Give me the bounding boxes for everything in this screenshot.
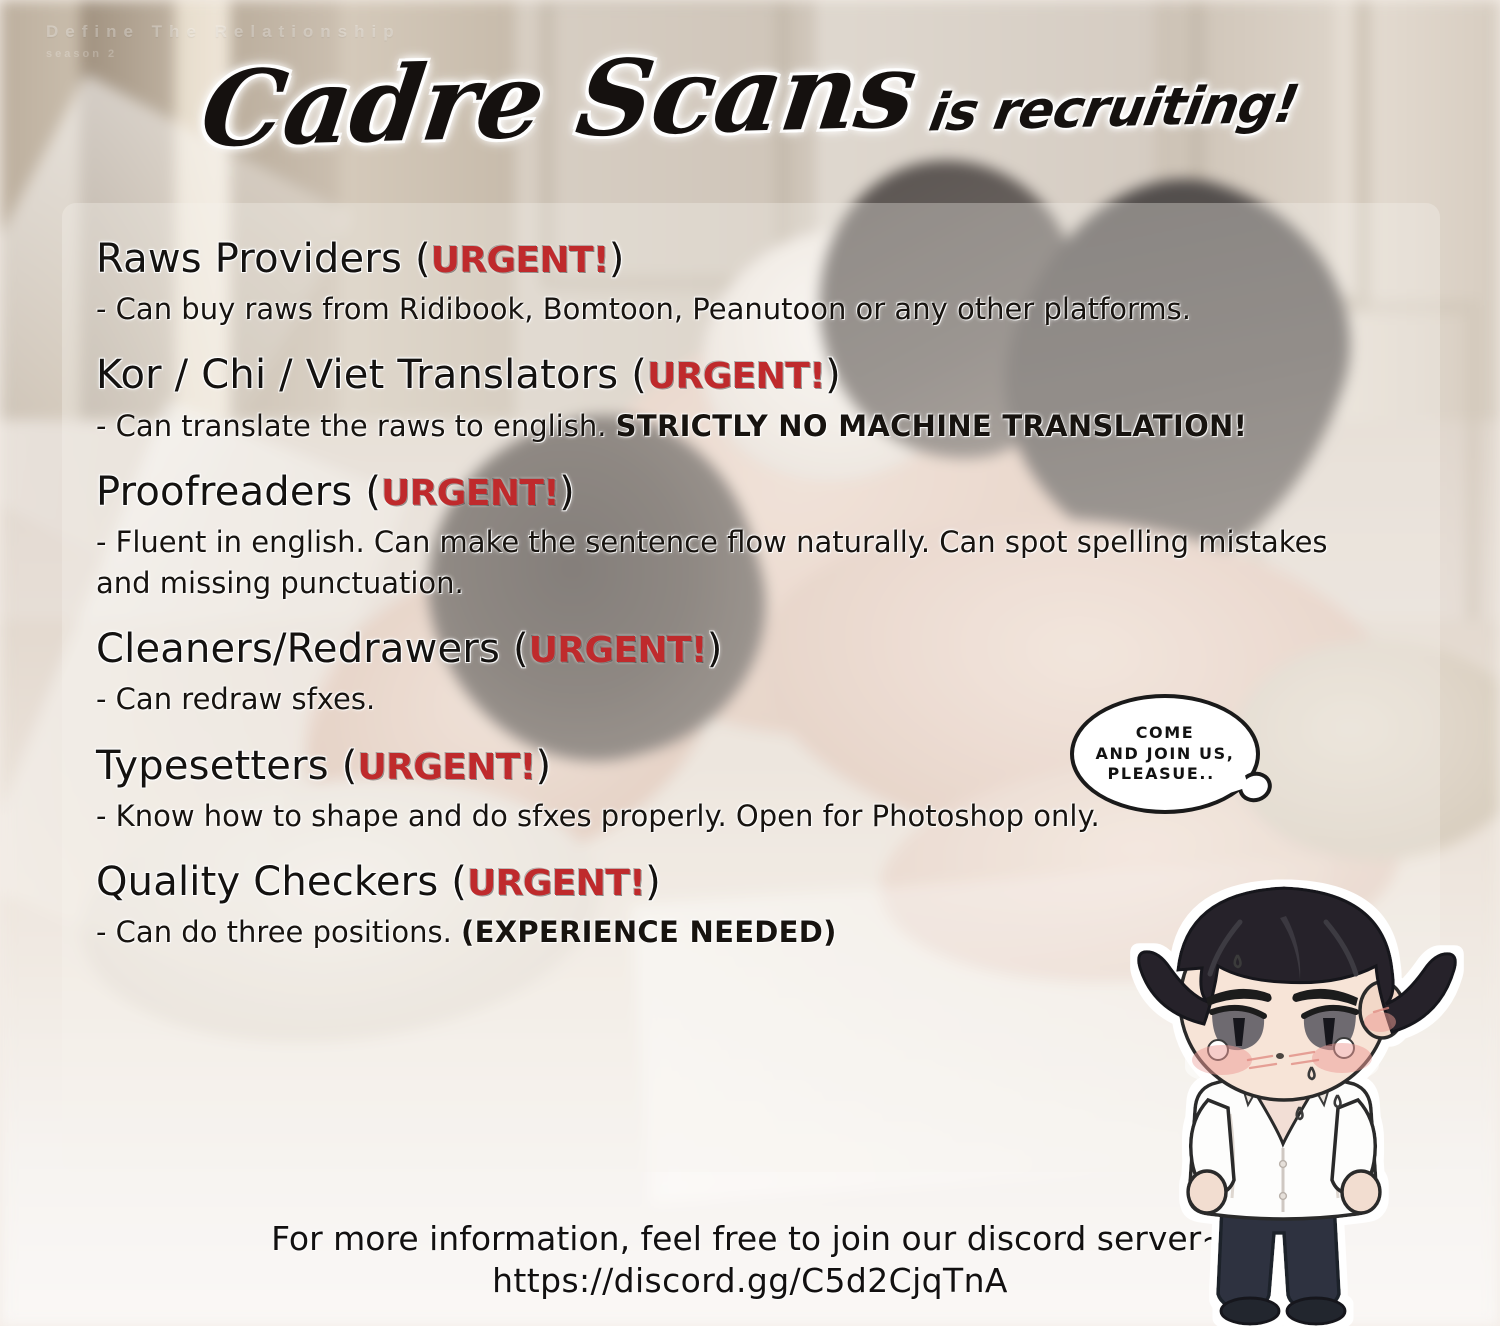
role-description-text: - Can translate the raws to english. — [96, 409, 616, 443]
urgent-badge: URGENT! — [381, 473, 559, 514]
role-description: - Can translate the raws to english. STR… — [96, 406, 1386, 447]
role-item-translators: Kor / Chi / Viet Translators (URGENT!) -… — [96, 352, 1396, 446]
role-name: Typesetters — [96, 743, 329, 789]
role-name: Kor / Chi / Viet Translators — [96, 352, 618, 398]
role-description: - Can buy raws from Ridibook, Bomtoon, P… — [96, 289, 1386, 330]
speech-bubble-line-3: PLEASUE... — [1108, 766, 1223, 783]
urgent-badge: URGENT! — [358, 747, 536, 788]
urgent-badge: URGENT! — [431, 240, 609, 281]
chibi-character-mascot — [1090, 852, 1465, 1326]
recruitment-poster: Define The Relationship season 2 Cadre S… — [0, 0, 1500, 1326]
roles-list: Raws Providers (URGENT!) - Can buy raws … — [96, 236, 1396, 953]
role-description-text: - Can do three positions. — [96, 915, 461, 949]
urgent-badge: URGENT! — [647, 356, 825, 397]
role-description-emphasis: STRICTLY NO MACHINE TRANSLATION! — [616, 409, 1247, 443]
role-title: Raws Providers (URGENT!) — [96, 236, 1396, 283]
speech-bubble-line-2: AND JOIN US, — [1096, 746, 1235, 763]
role-title: Kor / Chi / Viet Translators (URGENT!) — [96, 352, 1396, 399]
role-name: Raws Providers — [96, 236, 402, 282]
role-item-proofreaders: Proofreaders (URGENT!) - Fluent in engli… — [96, 469, 1396, 605]
speech-bubble: COME AND JOIN US, PLEASUE... — [1070, 694, 1260, 814]
role-name: Quality Checkers — [96, 859, 438, 905]
role-title: Cleaners/Redrawers (URGENT!) — [96, 626, 1396, 673]
role-title: Proofreaders (URGENT!) — [96, 469, 1396, 516]
role-name: Proofreaders — [96, 469, 352, 515]
role-item-raws-providers: Raws Providers (URGENT!) - Can buy raws … — [96, 236, 1396, 330]
speech-bubble-line-1: COME — [1136, 725, 1195, 742]
urgent-badge: URGENT! — [529, 630, 707, 671]
role-description: - Fluent in english. Can make the senten… — [96, 522, 1386, 604]
role-description-emphasis: (EXPERIENCE NEEDED) — [461, 915, 837, 949]
role-name: Cleaners/Redrawers — [96, 626, 500, 672]
urgent-badge: URGENT! — [467, 863, 645, 904]
